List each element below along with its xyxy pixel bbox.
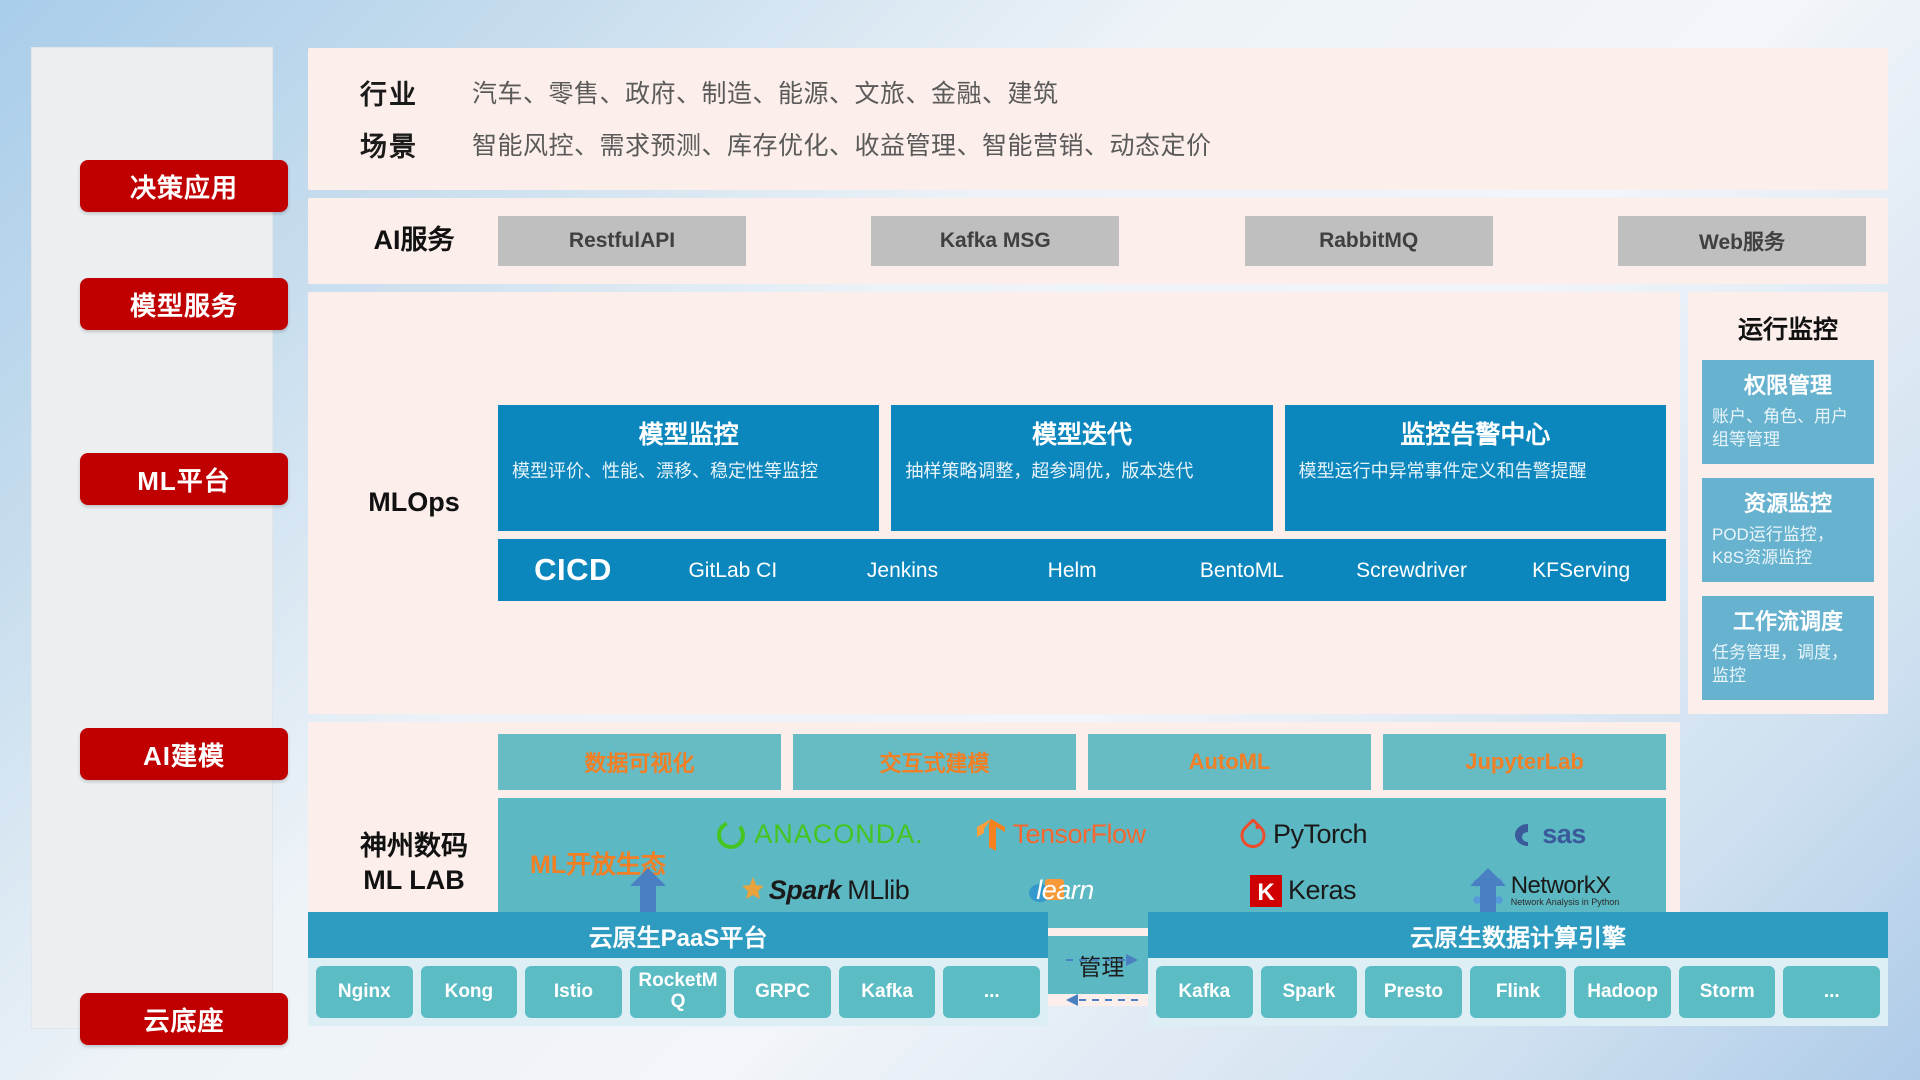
band-decision-applications: 行业 汽车、零售、政府、制造、能源、文旅、金融、建筑 场景 智能风控、需求预测、… [308,48,1888,190]
rail-item-label: 决策应用 [130,168,238,205]
ml-lab-label: 神州数码 ML LAB [330,830,498,898]
band-ml-platform-row: MLOps 模型监控 模型评价、性能、漂移、稳定性等监控 模型迭代 抽样策略调整… [308,292,1888,714]
cloud-chip-presto[interactable]: Presto [1365,966,1462,1018]
ai-service-chip-rabbitmq[interactable]: RabbitMQ [1245,216,1493,266]
mlops-card-title: 监控告警中心 [1299,415,1652,451]
scenario-values: 智能风控、需求预测、库存优化、收益管理、智能营销、动态定价 [472,126,1212,162]
cloud-foundation: 云原生PaaS平台 Nginx Kong Istio RocketMQ GRPC… [308,890,1888,1050]
cloud-chip-nginx[interactable]: Nginx [316,966,413,1018]
rail-item-decision-apps[interactable]: 决策应用 [80,160,288,212]
rail-item-label: 云底座 [143,1001,224,1038]
mlops-card-alert-center[interactable]: 监控告警中心 模型运行中异常事件定义和告警提醒 [1285,405,1666,531]
rail-item-ml-platform[interactable]: ML平台 [80,453,288,505]
rail-item-label: 模型服务 [130,286,238,323]
monitor-card-title: 权限管理 [1712,368,1864,400]
tool-chip-automl[interactable]: AutoML [1088,734,1371,790]
industry-values: 汽车、零售、政府、制造、能源、文旅、金融、建筑 [472,74,1059,110]
bidirectional-link-arrows [1060,948,1144,1018]
tool-chip-interactive-modeling[interactable]: 交互式建模 [793,734,1076,790]
cloud-chip-kong[interactable]: Kong [421,966,518,1018]
rail-item-label: AI建模 [143,736,225,773]
tool-chip-jupyterlab[interactable]: JupyterLab [1383,734,1666,790]
monitor-card-desc: 任务管理，调度，监控 [1712,642,1864,688]
cloud-chip-rocketmq[interactable]: RocketMQ [630,966,727,1018]
rail-item-ai-modeling[interactable]: AI建模 [80,728,288,780]
cicd-item-helm[interactable]: Helm [987,558,1157,582]
monitor-card-title: 资源监控 [1712,486,1864,518]
cicd-item-screwdriver[interactable]: Screwdriver [1327,558,1497,582]
ml-ecosystem-label: ML开放生态 [498,845,698,881]
sas-logo-text: sas [1542,819,1586,850]
mlops-card-list: 模型监控 模型评价、性能、漂移、稳定性等监控 模型迭代 抽样策略调整，超参调优，… [498,405,1666,531]
cloud-compute-title: 云原生数据计算引擎 [1148,912,1888,958]
monitor-card-desc: 账户、角色、用户组等管理 [1712,406,1864,452]
rail-item-cloud-base[interactable]: 云底座 [80,993,288,1045]
rail-item-label: ML平台 [137,461,231,498]
cicd-bar: CICD GitLab CI Jenkins Helm BentoML Scre… [498,539,1666,601]
mlops-card-model-iteration[interactable]: 模型迭代 抽样策略调整，超参调优，版本迭代 [891,405,1272,531]
band-ai-service: AI服务 RestfulAPI Kafka MSG RabbitMQ Web服务 [308,198,1888,284]
rail-item-model-service[interactable]: 模型服务 [80,278,288,330]
cicd-item-bentoml[interactable]: BentoML [1157,558,1327,582]
runtime-monitoring-title: 运行监控 [1702,310,1874,346]
cicd-item-gitlab-ci[interactable]: GitLab CI [648,558,818,582]
mlops-card-desc: 模型评价、性能、漂移、稳定性等监控 [512,459,865,484]
monitor-card-workflow-scheduling[interactable]: 工作流调度 任务管理，调度，监控 [1702,596,1874,700]
scenario-label: 场景 [332,125,472,164]
scenario-row: 场景 智能风控、需求预测、库存优化、收益管理、智能营销、动态定价 [332,118,1864,170]
cloud-paas-chip-list: Nginx Kong Istio RocketMQ GRPC Kafka ... [308,958,1048,1026]
ai-service-chip-restfulapi[interactable]: RestfulAPI [498,216,746,266]
ai-service-label: AI服务 [330,224,498,258]
cloud-paas-title: 云原生PaaS平台 [308,912,1048,958]
monitor-card-desc: POD运行监控，K8S资源监控 [1712,524,1864,570]
anaconda-logo-text: ANACONDA. [754,819,924,850]
cloud-chip-kafka[interactable]: Kafka [839,966,936,1018]
cloud-chip-istio[interactable]: Istio [525,966,622,1018]
mlops-label: MLOps [330,486,498,520]
layer-rail: 决策应用 模型服务 ML平台 AI建模 云底座 [32,48,272,1028]
cloud-chip-hadoop[interactable]: Hadoop [1574,966,1671,1018]
cicd-item-jenkins[interactable]: Jenkins [818,558,988,582]
tool-chip-data-visualization[interactable]: 数据可视化 [498,734,781,790]
arrow-up-compute-icon [1468,868,1508,914]
architecture-stack: 行业 汽车、零售、政府、制造、能源、文旅、金融、建筑 场景 智能风控、需求预测、… [308,48,1888,1006]
ai-service-chip-list: RestfulAPI Kafka MSG RabbitMQ Web服务 [498,216,1866,266]
pytorch-logo-text: PyTorch [1273,819,1367,850]
cicd-item-list: GitLab CI Jenkins Helm BentoML Screwdriv… [648,558,1666,582]
arrow-up-paas-icon [628,868,668,914]
mlops-card-title: 模型监控 [512,415,865,451]
cloud-chip-grpc[interactable]: GRPC [734,966,831,1018]
monitor-card-permission-management[interactable]: 权限管理 账户、角色、用户组等管理 [1702,360,1874,464]
mlops-card-desc: 抽样策略调整，超参调优，版本迭代 [905,459,1258,484]
cloud-chip-spark[interactable]: Spark [1261,966,1358,1018]
mlops-card-model-monitoring[interactable]: 模型监控 模型评价、性能、漂移、稳定性等监控 [498,405,879,531]
anaconda-logo: ANACONDA. [698,807,940,863]
tensorflow-logo-text: TensorFlow [1012,819,1145,850]
cloud-data-compute-engine: 云原生数据计算引擎 Kafka Spark Presto Flink Hadoo… [1148,912,1888,1026]
ml-lab-label-line1: 神州数码 [330,830,498,864]
mlops-card-title: 模型迭代 [905,415,1258,451]
ai-service-chip-web-service[interactable]: Web服务 [1618,216,1866,266]
industry-row: 行业 汽车、零售、政府、制造、能源、文旅、金融、建筑 [332,66,1864,118]
tensorflow-logo: TensorFlow [940,807,1182,863]
cloud-paas-platform: 云原生PaaS平台 Nginx Kong Istio RocketMQ GRPC… [308,912,1048,1026]
sas-logo: sas [1424,807,1666,863]
band-mlops: MLOps 模型监控 模型评价、性能、漂移、稳定性等监控 模型迭代 抽样策略调整… [308,292,1680,714]
cicd-item-kfserving[interactable]: KFServing [1496,558,1666,582]
pytorch-logo: PyTorch [1182,807,1424,863]
cloud-chip-more[interactable]: ... [1783,966,1880,1018]
cloud-chip-more[interactable]: ... [943,966,1040,1018]
cloud-compute-chip-list: Kafka Spark Presto Flink Hadoop Storm ..… [1148,958,1888,1026]
industry-label: 行业 [332,73,472,112]
modeling-tool-list: 数据可视化 交互式建模 AutoML JupyterLab [498,734,1666,790]
ai-service-chip-kafka-msg[interactable]: Kafka MSG [871,216,1119,266]
monitor-card-resource-monitoring[interactable]: 资源监控 POD运行监控，K8S资源监控 [1702,478,1874,582]
cloud-chip-storm[interactable]: Storm [1679,966,1776,1018]
cloud-chip-flink[interactable]: Flink [1470,966,1567,1018]
cloud-chip-kafka[interactable]: Kafka [1156,966,1253,1018]
monitor-card-title: 工作流调度 [1712,604,1864,636]
panel-runtime-monitoring: 运行监控 权限管理 账户、角色、用户组等管理 资源监控 POD运行监控，K8S资… [1688,292,1888,714]
cicd-title: CICD [498,552,648,588]
mlops-card-desc: 模型运行中异常事件定义和告警提醒 [1299,459,1652,484]
